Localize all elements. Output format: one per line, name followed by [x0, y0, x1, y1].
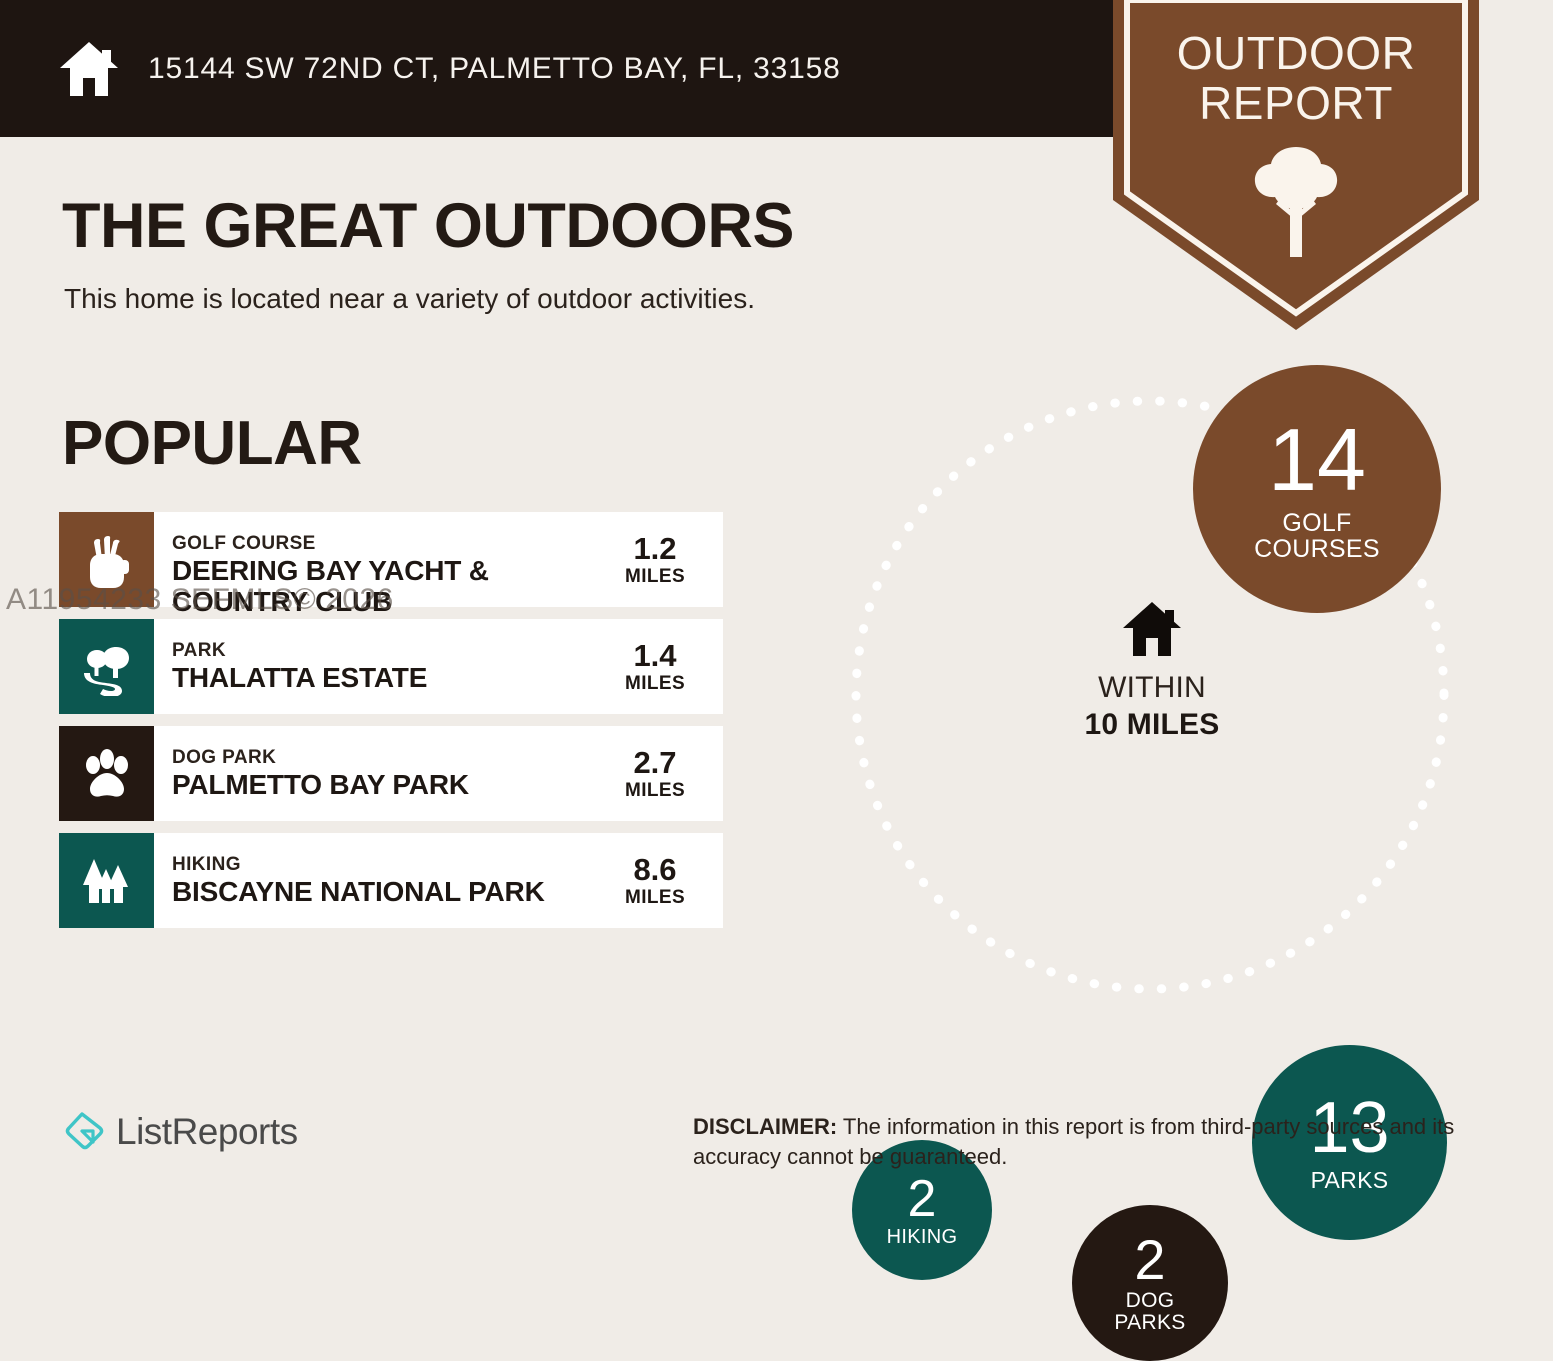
header-content: 15144 SW 72ND CT, PALMETTO BAY, FL, 3315… [58, 0, 841, 137]
page-subtitle: This home is located near a variety of o… [64, 283, 755, 315]
stat-label-line1: DOG [1126, 1290, 1175, 1312]
stat-count: 2 [1134, 1232, 1165, 1288]
list-item-name: BISCAYNE NATIONAL PARK [172, 876, 593, 907]
list-item-category: HIKING [172, 854, 593, 876]
list-item-category: GOLF COURSE [172, 533, 593, 555]
pine-trees-icon [59, 833, 154, 928]
page-title: THE GREAT OUTDOORS [62, 190, 794, 262]
badge-title: OUTDOOR REPORT [1113, 28, 1479, 128]
popular-list: GOLF COURSE DEERING BAY YACHT & COUNTRY … [59, 512, 723, 940]
list-item-category: DOG PARK [172, 747, 593, 769]
list-item-name: PALMETTO BAY PARK [172, 769, 593, 800]
within-label: WITHIN [1032, 669, 1272, 706]
list-item[interactable]: DOG PARK PALMETTO BAY PARK 2.7 MILES [59, 726, 723, 821]
list-item-distance-unit: MILES [625, 780, 685, 802]
stat-label-line2: PARKS [1114, 1312, 1185, 1334]
diagram-center: WITHIN 10 MILES [1032, 600, 1272, 743]
listreports-wordmark: ListReports [116, 1111, 298, 1153]
stat-bubble-dog-parks[interactable]: 2 DOG PARKS [1072, 1205, 1228, 1361]
stat-bubble-golf-courses[interactable]: 14 GOLF COURSES [1193, 365, 1441, 613]
badge-title-line2: REPORT [1113, 78, 1479, 128]
stat-label-line2: COURSES [1254, 536, 1380, 562]
within-10-miles-diagram: 14 GOLF COURSES 13 PARKS 2 DOG PARKS 2 H… [800, 355, 1500, 1035]
list-item-distance-value: 1.4 [633, 639, 676, 673]
list-item-distance-unit: MILES [625, 673, 685, 695]
miles-label: 10 MILES [1032, 706, 1272, 743]
list-item-text: PARK THALATTA ESTATE [154, 619, 601, 714]
list-item-name: THALATTA ESTATE [172, 662, 593, 693]
park-tree-icon [59, 619, 154, 714]
home-icon [58, 40, 120, 98]
disclaimer-label: DISCLAIMER: [693, 1114, 837, 1139]
paw-print-icon [59, 726, 154, 821]
outdoor-report-badge: OUTDOOR REPORT [1113, 0, 1479, 330]
list-item-distance-value: 2.7 [633, 746, 676, 780]
popular-section-heading: POPULAR [62, 408, 362, 479]
list-item-distance: 1.2 MILES [601, 512, 723, 607]
home-icon [1121, 645, 1183, 662]
list-item-text: GOLF COURSE DEERING BAY YACHT & COUNTRY … [154, 512, 601, 607]
list-item[interactable]: HIKING BISCAYNE NATIONAL PARK 8.6 MILES [59, 833, 723, 928]
stat-count: 14 [1268, 416, 1366, 504]
list-item-name: DEERING BAY YACHT & COUNTRY CLUB [172, 555, 593, 586]
stat-label-line1: PARKS [1311, 1168, 1389, 1192]
list-item-distance: 8.6 MILES [601, 833, 723, 928]
list-item[interactable]: GOLF COURSE DEERING BAY YACHT & COUNTRY … [59, 512, 723, 607]
property-address: 15144 SW 72ND CT, PALMETTO BAY, FL, 3315… [148, 52, 841, 86]
list-item-text: HIKING BISCAYNE NATIONAL PARK [154, 833, 601, 928]
disclaimer: DISCLAIMER: The information in this repo… [693, 1112, 1493, 1172]
list-item-distance-value: 8.6 [633, 853, 676, 887]
listreports-logo[interactable]: ListReports [62, 1110, 298, 1154]
stat-label-line1: GOLF [1282, 510, 1351, 536]
badge-title-line1: OUTDOOR [1113, 28, 1479, 78]
stat-label-line1: HIKING [887, 1227, 958, 1248]
list-item-distance-unit: MILES [625, 887, 685, 909]
listreports-house-icon [62, 1110, 106, 1154]
list-item-category: PARK [172, 640, 593, 662]
list-item-distance-value: 1.2 [633, 532, 676, 566]
list-item[interactable]: PARK THALATTA ESTATE 1.4 MILES [59, 619, 723, 714]
list-item-distance: 1.4 MILES [601, 619, 723, 714]
list-item-distance-unit: MILES [625, 566, 685, 588]
stat-count: 2 [908, 1173, 937, 1225]
list-item-distance: 2.7 MILES [601, 726, 723, 821]
golf-bag-icon [59, 512, 154, 607]
list-item-text: DOG PARK PALMETTO BAY PARK [154, 726, 601, 821]
